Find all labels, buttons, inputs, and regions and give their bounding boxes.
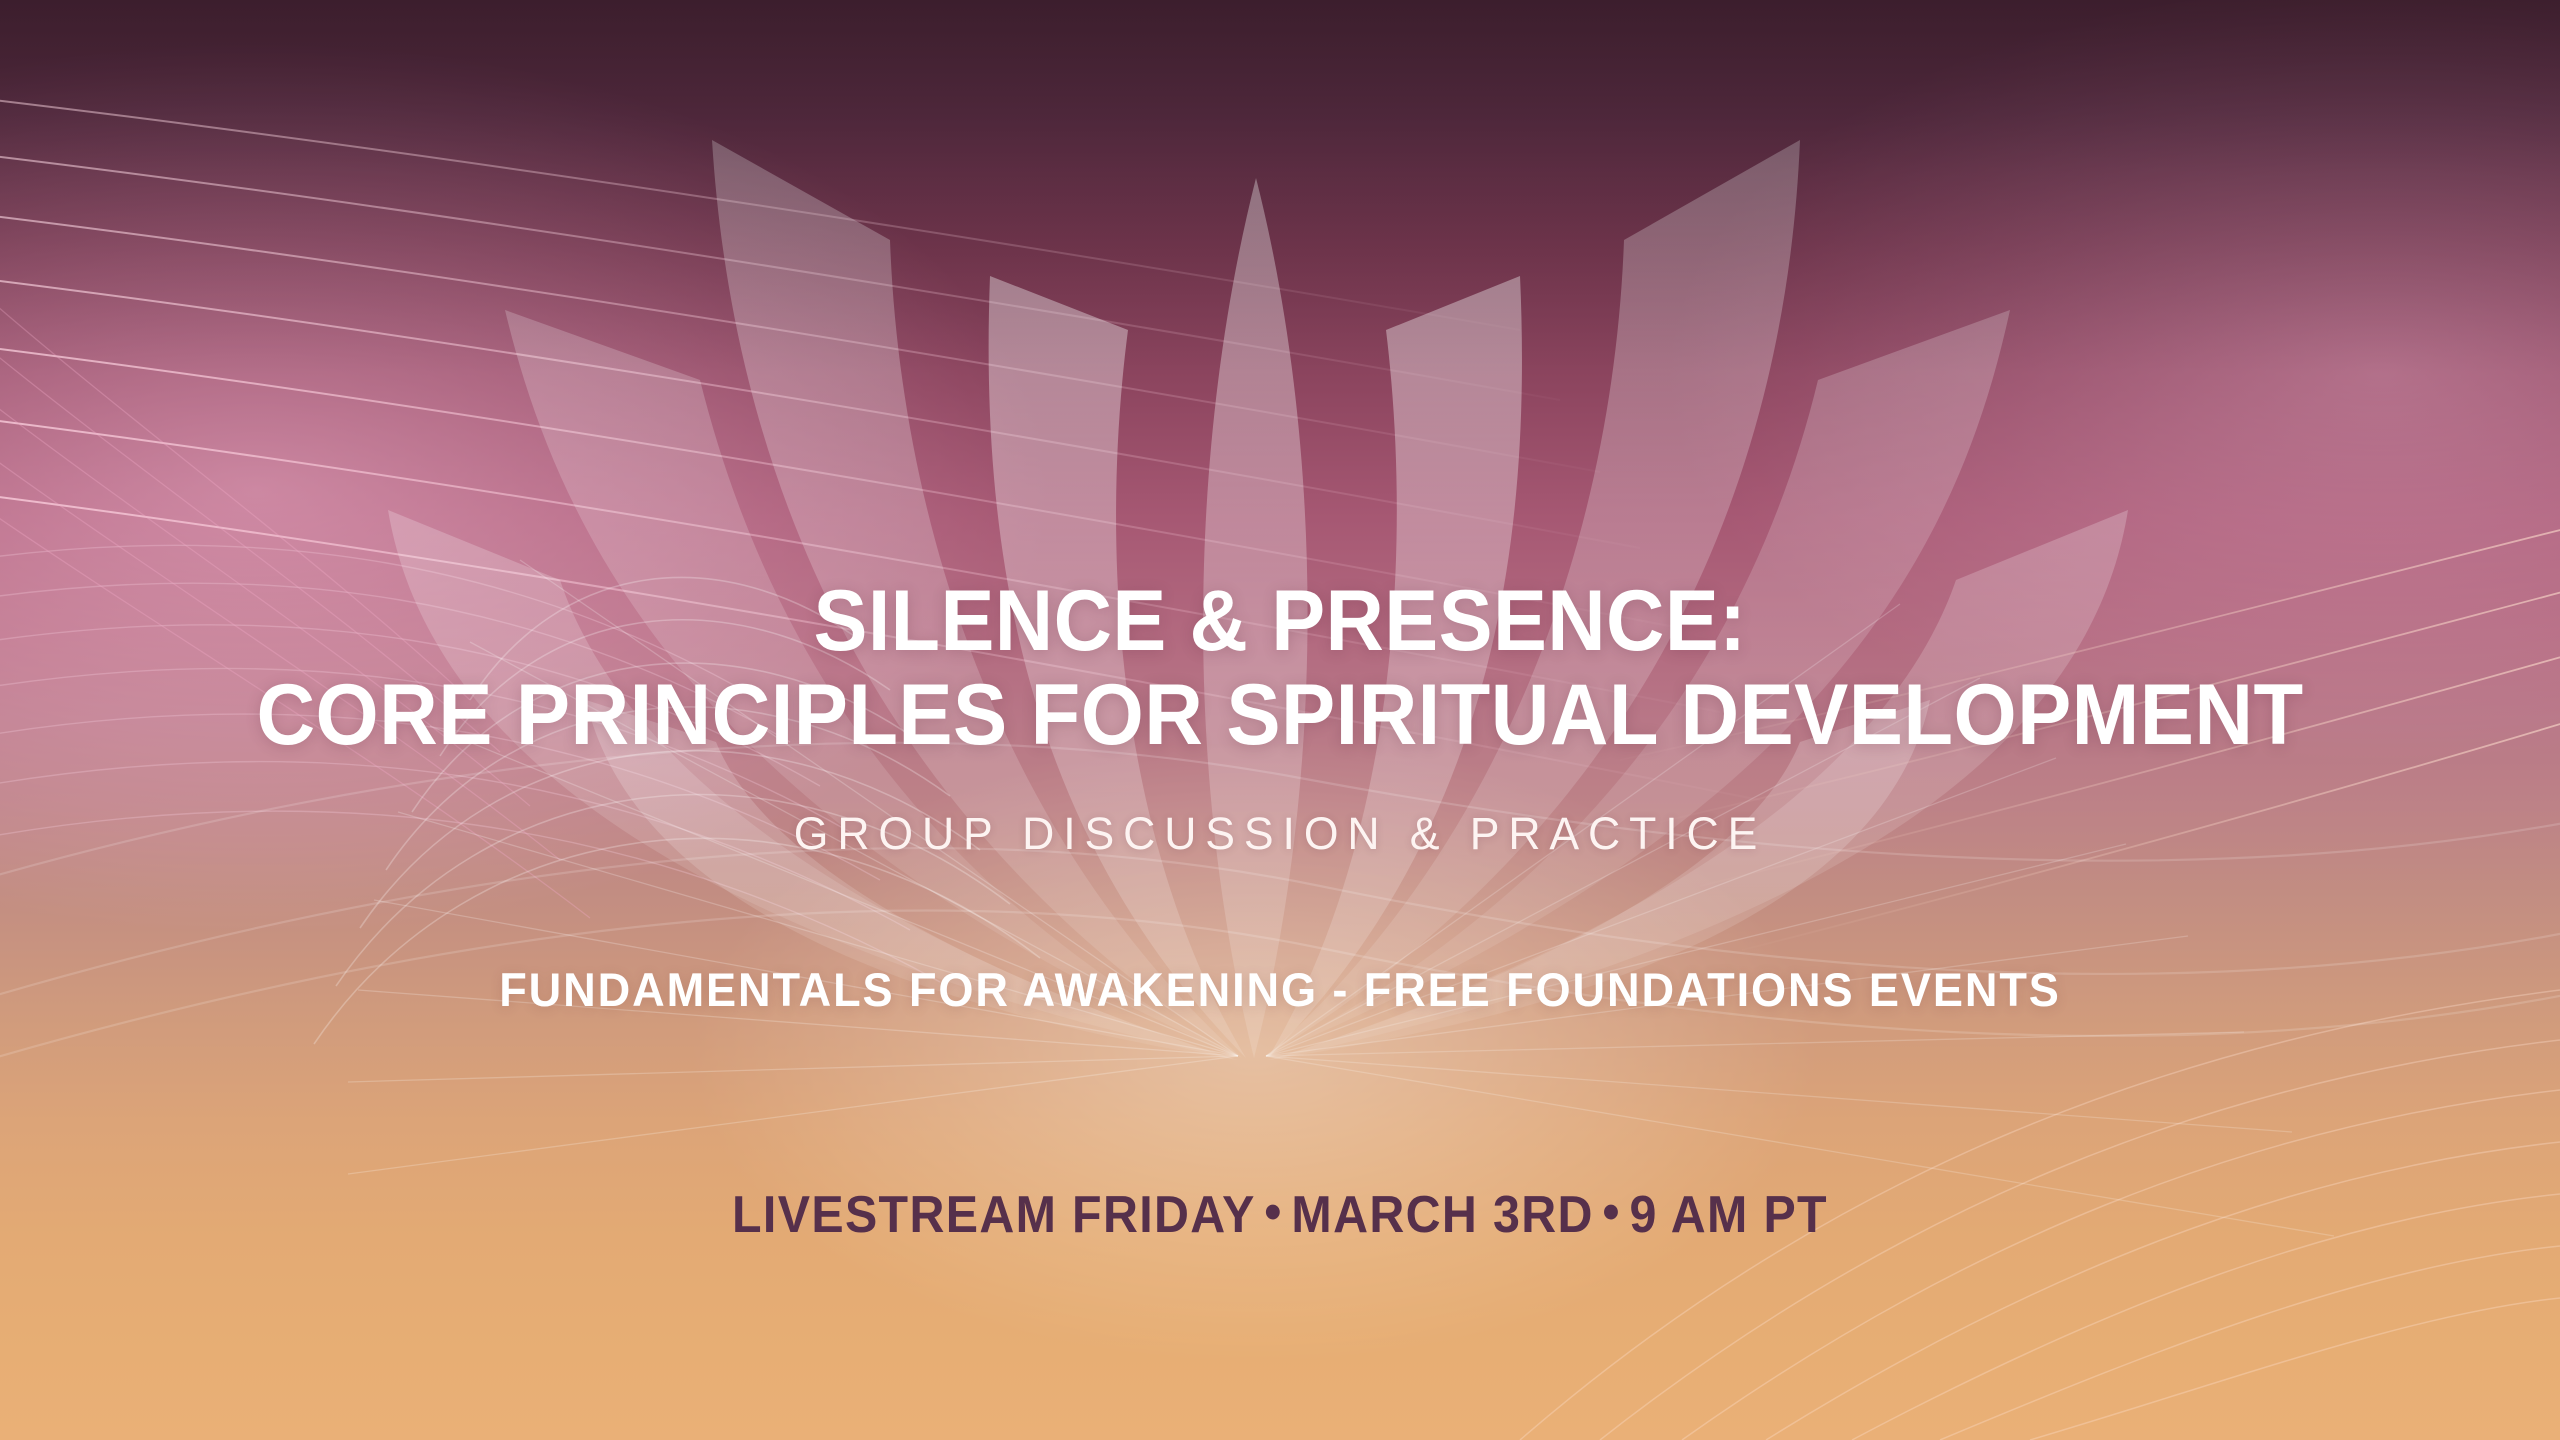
- banner-text-block: SILENCE & PRESENCE: CORE PRINCIPLES FOR …: [0, 0, 2560, 1440]
- event-date-part-2: MARCH 3RD: [1291, 1186, 1593, 1244]
- event-subtitle: GROUP DISCUSSION & PRACTICE: [13, 808, 2547, 860]
- event-date-part-3: 9 AM PT: [1629, 1186, 1827, 1244]
- event-title-line-1: SILENCE & PRESENCE:: [77, 578, 2483, 664]
- event-date-strip: LIVESTREAM FRIDAY•MARCH 3RD•9 AM PT: [90, 1182, 2471, 1245]
- bullet-separator-icon-2: •: [1594, 1182, 1630, 1242]
- event-title-line-2: CORE PRINCIPLES FOR SPIRITUAL DEVELOPMEN…: [70, 672, 2489, 758]
- event-tagline: FUNDAMENTALS FOR AWAKENING - FREE FOUNDA…: [51, 962, 2509, 1017]
- event-banner: SILENCE & PRESENCE: CORE PRINCIPLES FOR …: [0, 0, 2560, 1440]
- event-date-part-1: LIVESTREAM FRIDAY: [732, 1186, 1256, 1244]
- bullet-separator-icon-1: •: [1256, 1182, 1292, 1242]
